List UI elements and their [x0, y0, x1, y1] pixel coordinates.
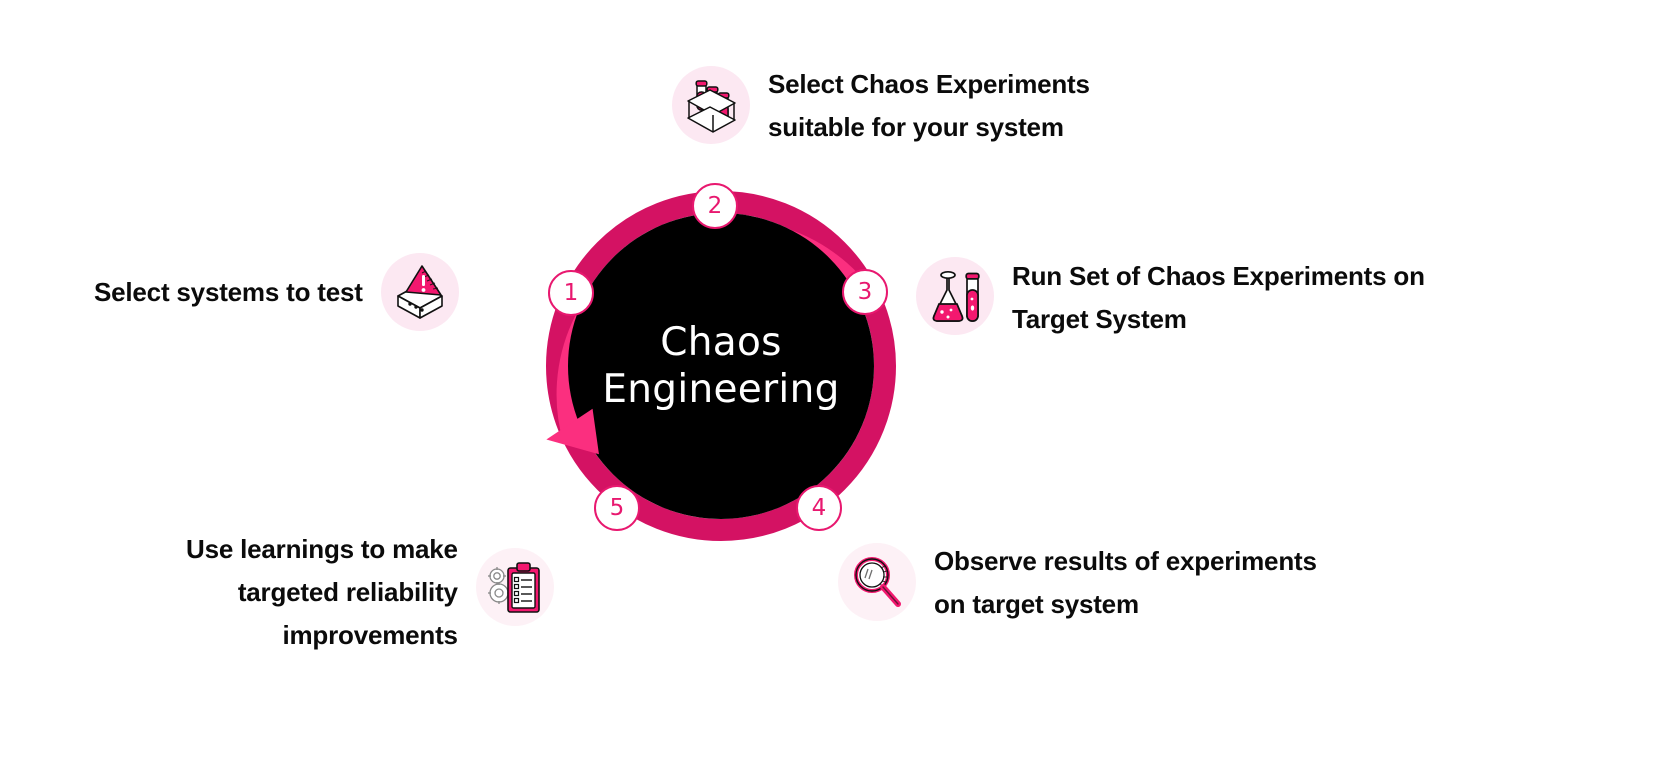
step-badge-5[interactable]: 5 [594, 485, 640, 531]
step-badge-4[interactable]: 4 [796, 485, 842, 531]
step-item-2: Select Chaos Experiments suitable for yo… [672, 60, 1090, 149]
step-item-4: Observe results of experiments on target… [838, 537, 1317, 626]
step-badge-3[interactable]: 3 [842, 269, 888, 315]
step-label-1: Select systems to test [94, 271, 363, 314]
step-item-1: Select systems to test [94, 253, 459, 331]
clipboard-gears-icon [476, 548, 554, 626]
server-warning-icon [381, 253, 459, 331]
step-label-2: Select Chaos Experiments suitable for yo… [768, 60, 1090, 149]
step-label-5: Use learnings to make targeted reliabili… [186, 528, 458, 657]
flask-and-test-tube-icon [916, 257, 994, 335]
ring-core [568, 213, 874, 519]
step-item-5: Use learnings to make targeted reliabili… [186, 528, 554, 657]
step-badge-2[interactable]: 2 [692, 183, 738, 229]
step-badge-1[interactable]: 1 [548, 270, 594, 316]
step-label-4: Observe results of experiments on target… [934, 537, 1317, 626]
test-tube-rack-icon [672, 66, 750, 144]
step-label-3: Run Set of Chaos Experiments on Target S… [1012, 252, 1425, 341]
step-item-3: Run Set of Chaos Experiments on Target S… [916, 252, 1425, 341]
magnifying-glass-icon [838, 543, 916, 621]
